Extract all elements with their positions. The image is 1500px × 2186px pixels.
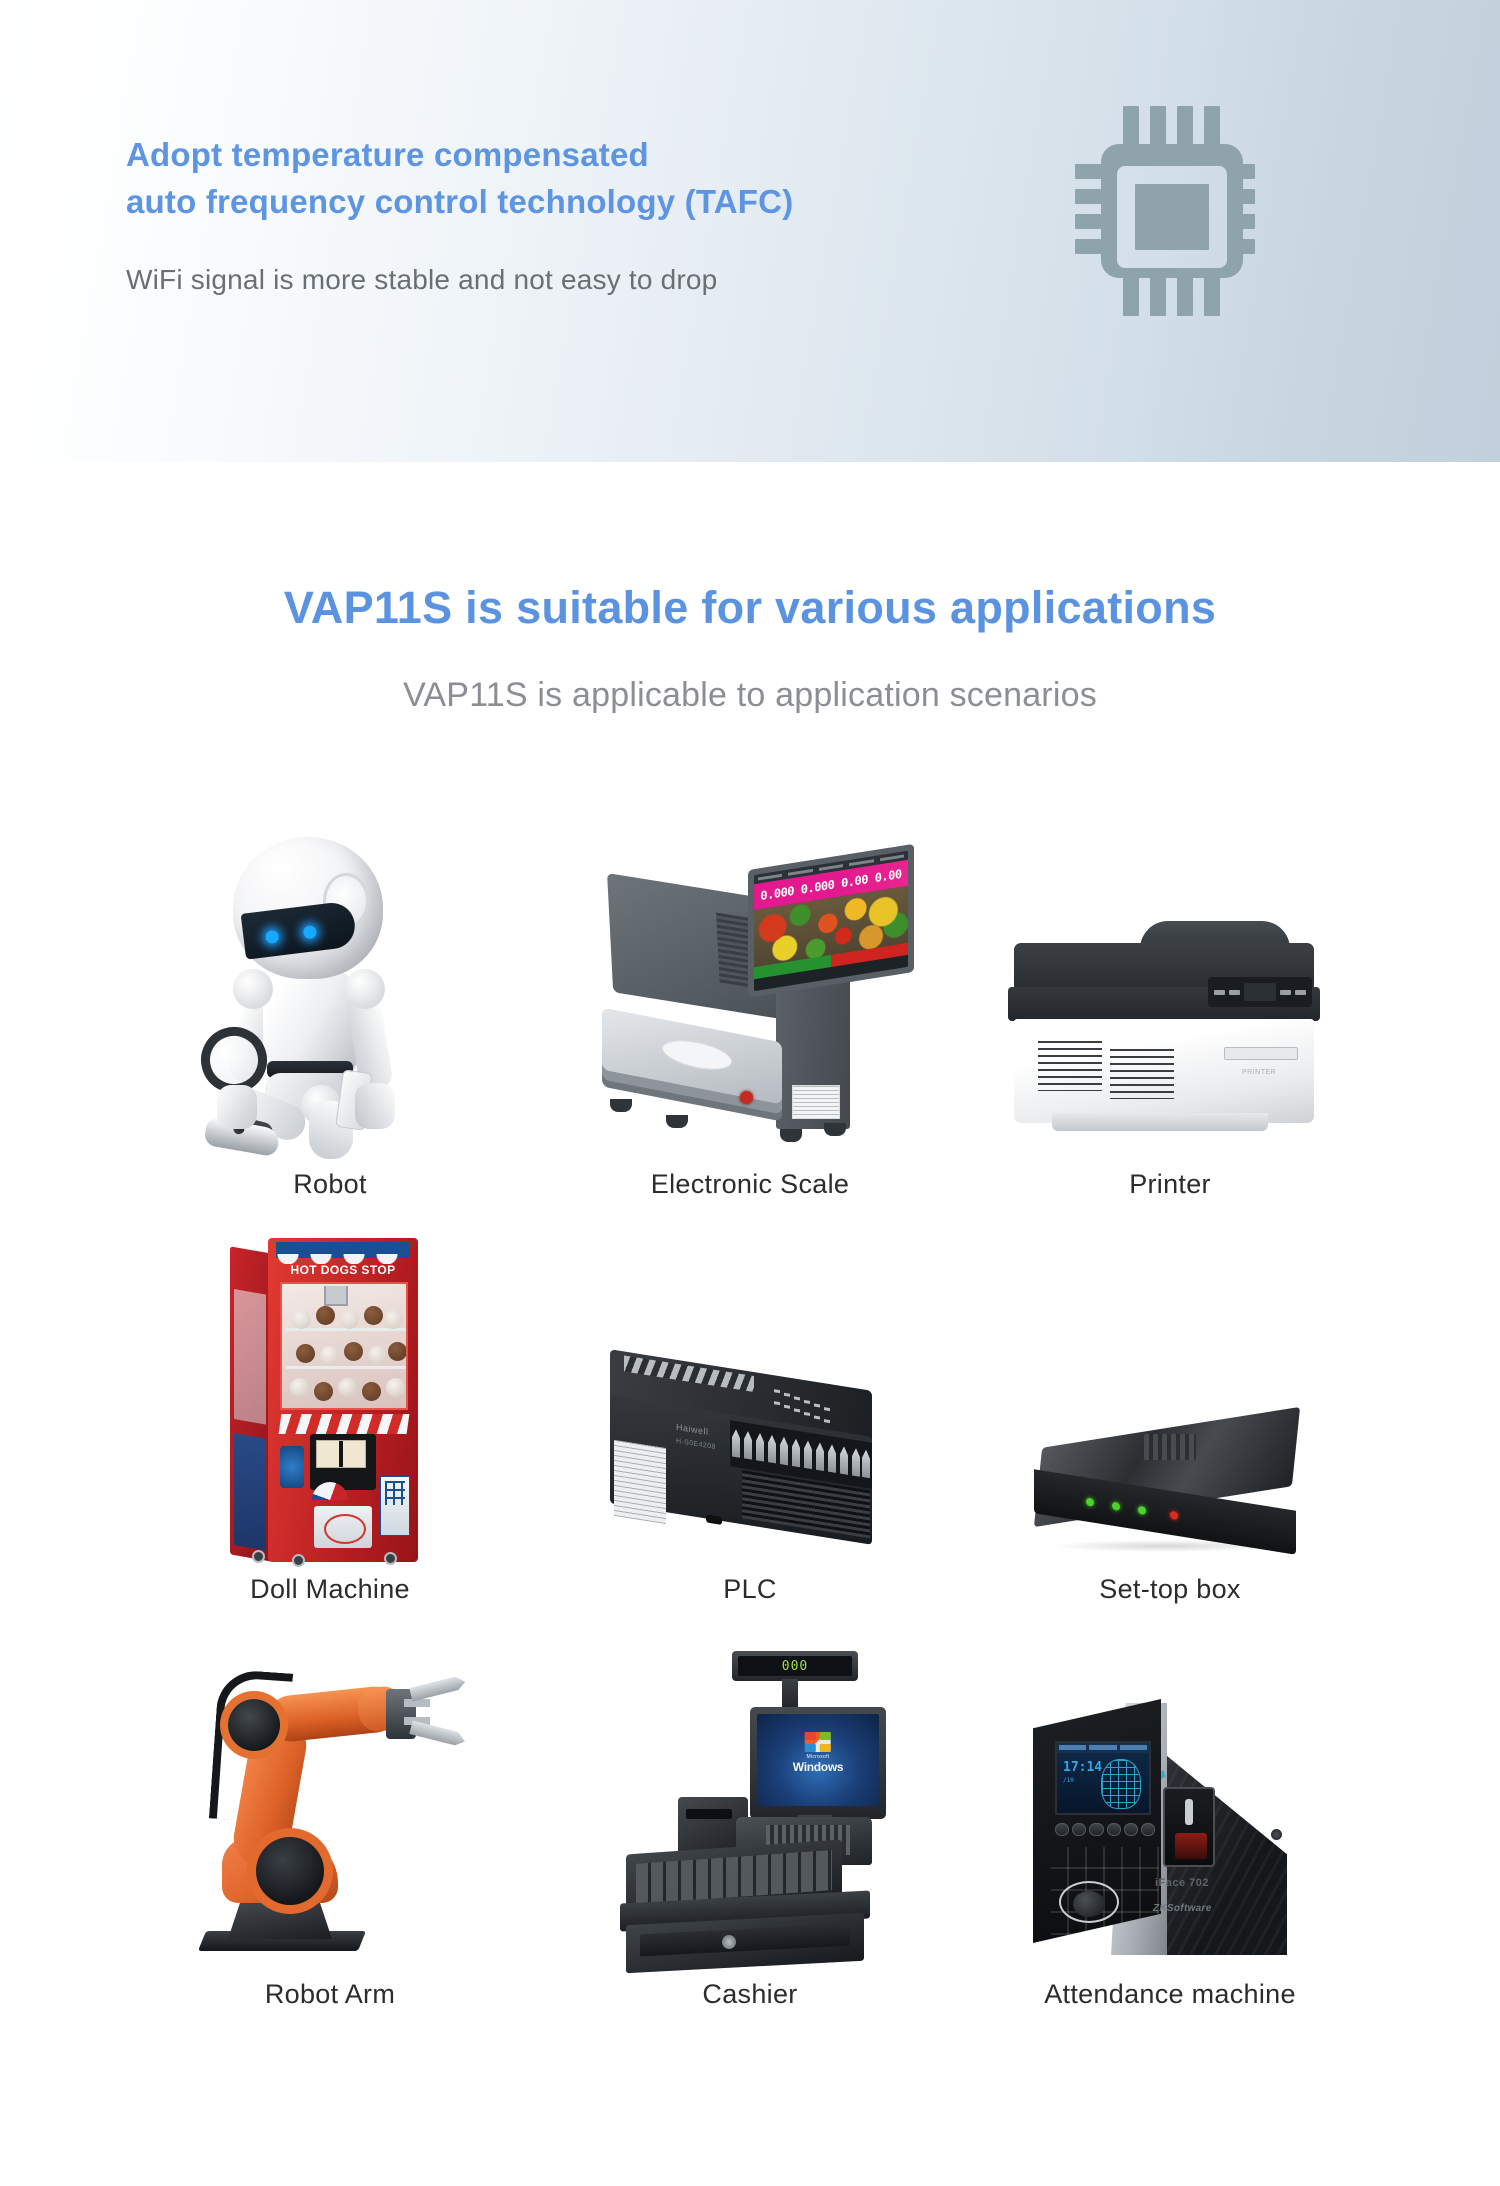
plc-module-icon: Haiwell H-S0E4208: [555, 1216, 945, 1568]
application-item-robot-arm[interactable]: Robot Arm: [120, 1621, 540, 2010]
pos-scale-icon: 0.000 0.000 0.00 0.00: [555, 811, 945, 1163]
application-label: PLC: [723, 1574, 776, 1605]
application-label: Electronic Scale: [651, 1169, 849, 1200]
hero-subline: WiFi signal is more stable and not easy …: [126, 262, 793, 298]
face-attendance-terminal-icon: 17:14 /10 iFace 702 ZKSoftware: [975, 1621, 1365, 1973]
industrial-robot-arm-icon: [135, 1621, 525, 1973]
application-label: Attendance machine: [1044, 1979, 1296, 2010]
application-item-robot[interactable]: Robot: [120, 811, 540, 1200]
customer-display-value: 000: [738, 1656, 852, 1676]
terminal-brand: ZKSoftware: [1153, 1903, 1212, 1914]
set-top-box-icon: [975, 1216, 1365, 1568]
application-item-printer[interactable]: PRINTER Printer: [960, 811, 1380, 1200]
doll-machine-banner: HOT DOGS STOP: [276, 1260, 410, 1280]
cash-register-icon: 000 Microsoft Windows: [555, 1621, 945, 1973]
humanoid-robot-icon: [135, 811, 525, 1163]
application-item-cashier[interactable]: 000 Microsoft Windows: [540, 1621, 960, 2010]
plc-model: H-S0E4208: [676, 1438, 716, 1451]
application-label: Printer: [1129, 1169, 1211, 1200]
applications-grid: Robot 0.000 0.000 0.00 0.00: [120, 811, 1380, 2010]
application-label: Set-top box: [1099, 1574, 1240, 1605]
application-label: Robot Arm: [265, 1979, 395, 2010]
claw-crane-machine-icon: HOT DOGS STOP: [135, 1216, 525, 1568]
plc-brand: Haiwell: [676, 1422, 709, 1437]
printer-body-text: PRINTER: [1242, 1069, 1276, 1076]
application-item-attendance-machine[interactable]: 17:14 /10 iFace 702 ZKSoftware Attendanc…: [960, 1621, 1380, 2010]
hero-banner: Adopt temperature compensated auto frequ…: [0, 0, 1500, 462]
section-subtitle: VAP11S is applicable to application scen…: [0, 676, 1500, 715]
cpu-chip-icon: [1075, 106, 1255, 321]
application-label: Cashier: [702, 1979, 797, 2010]
hero-text-block: Adopt temperature compensated auto frequ…: [126, 132, 793, 298]
application-label: Robot: [293, 1169, 367, 1200]
applications-section: VAP11S is suitable for various applicati…: [0, 462, 1500, 2010]
laser-printer-icon: PRINTER: [975, 811, 1365, 1163]
terminal-date: /10: [1063, 1777, 1074, 1784]
os-name-line: Windows: [793, 1760, 843, 1774]
application-item-doll-machine[interactable]: HOT DOGS STOP: [120, 1216, 540, 1605]
terminal-clock: 17:14: [1063, 1761, 1102, 1774]
application-label: Doll Machine: [250, 1574, 410, 1605]
hero-headline: Adopt temperature compensated auto frequ…: [126, 132, 793, 226]
application-item-electronic-scale[interactable]: 0.000 0.000 0.00 0.00 Electronic Scale: [540, 811, 960, 1200]
application-item-set-top-box[interactable]: Set-top box: [960, 1216, 1380, 1605]
terminal-model: iFace 702: [1155, 1877, 1209, 1889]
application-item-plc[interactable]: Haiwell H-S0E4208 PLC: [540, 1216, 960, 1605]
section-title: VAP11S is suitable for various applicati…: [0, 582, 1500, 634]
